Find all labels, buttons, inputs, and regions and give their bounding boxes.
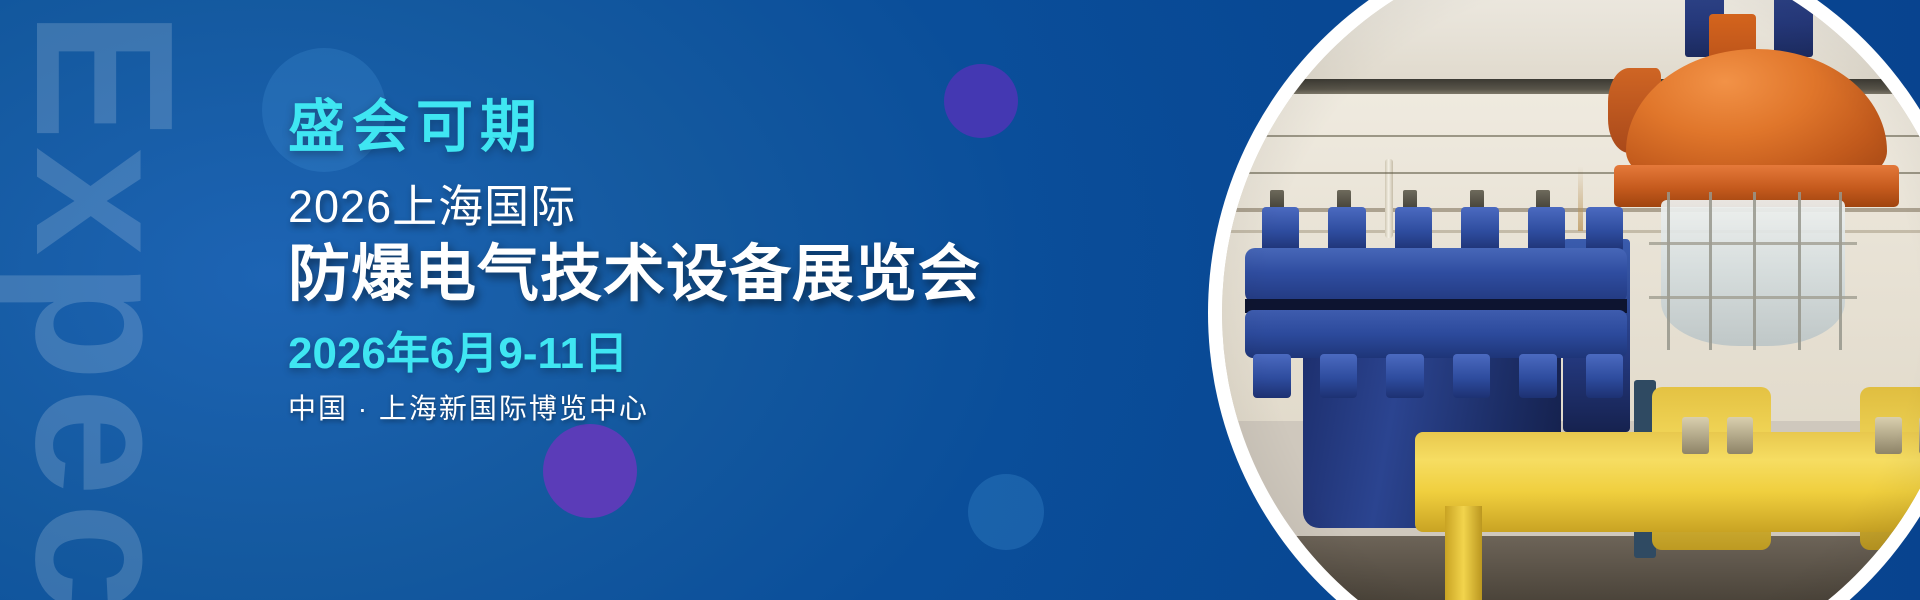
photo-vignette (1222, 0, 1920, 600)
banner-copy: 盛会可期 2026上海国际 防爆电气技术设备展览会 2026年6月9-11日 中… (288, 96, 988, 425)
banner-subtitle: 2026上海国际 (288, 182, 988, 232)
photo-scene (1222, 0, 1920, 600)
explosion-proof-equipment-photo (1222, 0, 1920, 600)
photo-ring (1208, 0, 1920, 600)
banner-date: 2026年6月9-11日 (288, 329, 988, 378)
exhibition-banner: Expec 盛会可期 2026上海国际 防爆电气技术设备展览会 2026年6月9… (0, 0, 1920, 600)
banner-venue: 中国 · 上海新国际博览中心 (288, 394, 988, 425)
banner-title: 防爆电气技术设备展览会 (288, 238, 988, 312)
decor-circle-purple-lower (543, 424, 637, 518)
decor-circle-blue-lower (968, 474, 1044, 550)
banner-kicker: 盛会可期 (288, 96, 988, 160)
